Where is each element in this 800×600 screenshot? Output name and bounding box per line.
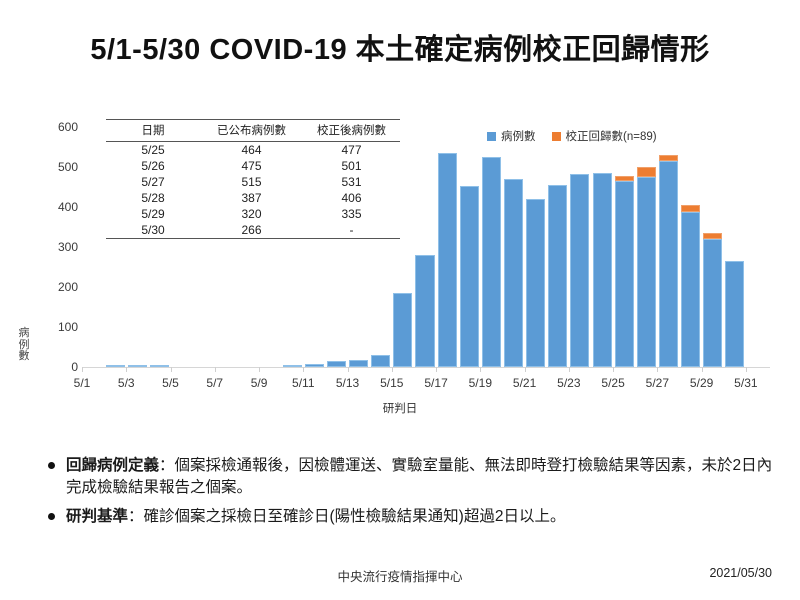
table-row: 5/30266-: [106, 222, 400, 238]
table-cell: 531: [303, 174, 400, 190]
x-tick-label: 5/15: [380, 376, 403, 390]
y-tick-label: 600: [58, 120, 78, 134]
x-tickmark: [348, 367, 349, 372]
note-criteria-label: 研判基準: [66, 508, 128, 525]
x-axis-title: 研判日: [0, 400, 800, 416]
table-cell: 320: [200, 206, 303, 222]
y-tick-label: 500: [58, 160, 78, 174]
table-cell: -: [303, 222, 400, 238]
x-tickmark: [82, 367, 83, 372]
table-header-adjusted: 校正後病例數: [303, 120, 400, 142]
bullet-dot-icon: [48, 462, 55, 469]
table-cell: 5/27: [106, 174, 200, 190]
page-title: 5/1-5/30 COVID-19 本土確定病例校正回歸情形: [0, 26, 800, 68]
x-tickmark: [303, 367, 304, 372]
y-tick-label: 0: [71, 360, 78, 374]
bar-segment-cases: [548, 185, 567, 367]
bar-segment-cases: [393, 293, 412, 367]
table-row: 5/25464477: [106, 142, 400, 159]
bar: [681, 205, 700, 367]
x-tickmark: [569, 367, 570, 372]
x-tickmark: [126, 367, 127, 372]
summary-table-grid: 日期 已公布病例數 校正後病例數 5/254644775/264755015/2…: [106, 120, 400, 238]
note-criteria: 研判基準：確診個案之採檢日至確診日(陽性檢驗結果通知)超過2日以上。: [46, 506, 776, 528]
summary-table: 日期 已公布病例數 校正後病例數 5/254644775/264755015/2…: [106, 119, 400, 239]
bar-segment-cases: [371, 355, 390, 367]
table-cell: 5/28: [106, 190, 200, 206]
bar: [393, 293, 412, 367]
table-header-row: 日期 已公布病例數 校正後病例數: [106, 120, 400, 142]
bullet-dot-icon: [48, 513, 55, 520]
x-tickmark: [171, 367, 172, 372]
bar-segment-adjusted: [659, 155, 678, 161]
table-cell: 5/29: [106, 206, 200, 222]
x-tick-label: 5/13: [336, 376, 359, 390]
bar: [637, 167, 656, 367]
bar: [593, 173, 612, 367]
x-axis-tickmarks: [82, 367, 768, 372]
footer-organization: 中央流行疫情指揮中心: [0, 566, 800, 585]
legend-item-adjusted: 校正回歸數(n=89): [552, 128, 657, 144]
bar-segment-cases: [725, 261, 744, 367]
legend-swatch-blue-icon: [487, 132, 496, 141]
table-cell: 406: [303, 190, 400, 206]
bar: [460, 186, 479, 367]
bar: [659, 155, 678, 367]
bar: [371, 355, 390, 367]
legend-swatch-orange-icon: [552, 132, 561, 141]
bar-segment-adjusted: [681, 205, 700, 213]
note-definition-text: ：個案採檢通報後，因檢體運送、實驗室量能、無法即時登打檢驗結果等因素，未於2日內…: [66, 457, 772, 496]
x-tick-label: 5/25: [601, 376, 624, 390]
table-row: 5/27515531: [106, 174, 400, 190]
x-tickmark: [525, 367, 526, 372]
bar: [725, 261, 744, 367]
bar-segment-cases: [504, 179, 523, 367]
x-tick-label: 5/21: [513, 376, 536, 390]
y-axis-tick-labels: 0100200300400500600: [34, 110, 78, 410]
bar-segment-cases: [460, 186, 479, 367]
x-tick-label: 5/1: [74, 376, 91, 390]
x-tickmark: [392, 367, 393, 372]
note-definition-label: 回歸病例定義: [66, 457, 159, 474]
legend-item-cases: 病例數: [487, 128, 536, 144]
bar: [615, 176, 634, 367]
bar-segment-cases: [526, 199, 545, 367]
table-cell: 477: [303, 142, 400, 159]
bar-segment-adjusted: [615, 176, 634, 181]
x-tick-label: 5/5: [162, 376, 179, 390]
legend-label-adjusted: 校正回歸數(n=89): [566, 128, 657, 144]
x-tick-label: 5/17: [424, 376, 447, 390]
bar-segment-cases: [615, 181, 634, 367]
x-tick-label: 5/9: [251, 376, 268, 390]
x-tick-label: 5/27: [646, 376, 669, 390]
x-tickmark: [746, 367, 747, 372]
bar: [415, 255, 434, 367]
table-cell: 335: [303, 206, 400, 222]
bar-segment-cases: [681, 212, 700, 367]
bar: [482, 157, 501, 367]
bar-segment-cases: [415, 255, 434, 367]
table-row: 5/28387406: [106, 190, 400, 206]
bar-segment-cases: [637, 177, 656, 367]
notes-block: 回歸病例定義：個案採檢通報後，因檢體運送、實驗室量能、無法即時登打檢驗結果等因素…: [46, 455, 776, 534]
bar: [703, 233, 722, 367]
x-tickmark: [702, 367, 703, 372]
bar-segment-cases: [349, 360, 368, 367]
note-criteria-text: ：確診個案之採檢日至確診日(陽性檢驗結果通知)超過2日以上。: [128, 508, 565, 525]
bar: [438, 153, 457, 367]
x-tickmark: [613, 367, 614, 372]
table-cell: 515: [200, 174, 303, 190]
bar: [548, 185, 567, 367]
bar: [526, 199, 545, 367]
bar-segment-adjusted: [637, 167, 656, 177]
x-tick-label: 5/19: [469, 376, 492, 390]
legend-label-cases: 病例數: [501, 128, 536, 144]
note-definition: 回歸病例定義：個案採檢通報後，因檢體運送、實驗室量能、無法即時登打檢驗結果等因素…: [46, 455, 776, 500]
table-header-date: 日期: [106, 120, 200, 142]
x-tickmark: [436, 367, 437, 372]
x-tickmark: [259, 367, 260, 372]
x-tickmark: [215, 367, 216, 372]
table-cell: 5/26: [106, 158, 200, 174]
bar-segment-adjusted: [703, 233, 722, 239]
bar: [570, 174, 589, 367]
x-tickmark: [480, 367, 481, 372]
y-tick-label: 300: [58, 240, 78, 254]
table-cell: 5/30: [106, 222, 200, 238]
table-row: 5/26475501: [106, 158, 400, 174]
bar-segment-cases: [570, 174, 589, 367]
bar-segment-cases: [703, 239, 722, 367]
table-cell: 501: [303, 158, 400, 174]
bar: [504, 179, 523, 367]
y-tick-label: 100: [58, 320, 78, 334]
table-body: 5/254644775/264755015/275155315/28387406…: [106, 142, 400, 239]
x-tickmark: [657, 367, 658, 372]
x-tick-label: 5/31: [734, 376, 757, 390]
bar-segment-cases: [593, 173, 612, 367]
y-axis-title: 病例數: [16, 328, 32, 363]
table-cell: 5/25: [106, 142, 200, 159]
y-tick-label: 400: [58, 200, 78, 214]
x-tick-label: 5/29: [690, 376, 713, 390]
table-header-published: 已公布病例數: [200, 120, 303, 142]
x-tick-label: 5/11: [292, 376, 314, 390]
footer-date: 2021/05/30: [709, 566, 772, 580]
table-cell: 266: [200, 222, 303, 238]
x-axis-tick-labels: 5/15/35/55/75/95/115/135/155/175/195/215…: [82, 376, 768, 398]
bar-segment-cases: [482, 157, 501, 367]
x-tick-label: 5/23: [557, 376, 580, 390]
table-cell: 475: [200, 158, 303, 174]
x-tick-label: 5/3: [118, 376, 135, 390]
table-cell: 464: [200, 142, 303, 159]
table-cell: 387: [200, 190, 303, 206]
chart-legend: 病例數 校正回歸數(n=89): [487, 128, 657, 144]
y-tick-label: 200: [58, 280, 78, 294]
bar-segment-cases: [659, 161, 678, 367]
bar: [349, 360, 368, 367]
table-row: 5/29320335: [106, 206, 400, 222]
x-tick-label: 5/7: [206, 376, 223, 390]
bar-segment-cases: [438, 153, 457, 367]
slide-root: 5/1-5/30 COVID-19 本土確定病例校正回歸情形 病例數 01002…: [0, 0, 800, 600]
